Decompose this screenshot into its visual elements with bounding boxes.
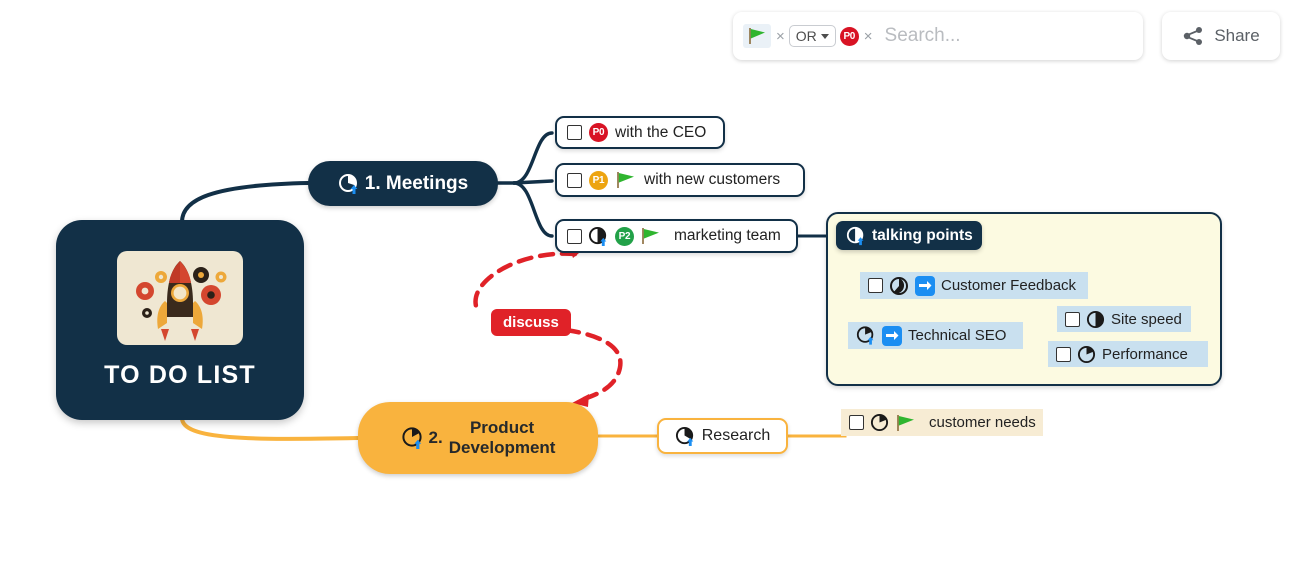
clock-quarter-icon [870, 413, 889, 432]
rocket-and-gears-illustration [117, 251, 243, 345]
node-customer-needs-label: customer needs [929, 414, 1036, 431]
node-product-development-label-line1: Product [470, 418, 534, 438]
node-technical-seo[interactable]: Technical SEO [848, 322, 1023, 349]
checkbox[interactable] [567, 125, 582, 140]
clock-icon [401, 426, 425, 450]
node-meetings-label: 1. Meetings [365, 173, 468, 195]
root-title: TO DO LIST [104, 361, 256, 390]
checkbox[interactable] [868, 278, 883, 293]
clock-half-icon [1086, 310, 1105, 329]
green-flag-icon [640, 227, 662, 245]
node-customer-feedback-label: Customer Feedback [941, 277, 1076, 294]
checkbox[interactable] [849, 415, 864, 430]
p0-badge: P0 [589, 123, 608, 142]
mindmap-canvas[interactable]: × OR P0 × Share [0, 0, 1296, 570]
p2-badge: P2 [615, 227, 634, 246]
node-product-development-number: 2. [429, 428, 443, 448]
operator-label: OR [796, 28, 817, 44]
clock-three-quarter-icon [889, 276, 909, 296]
green-flag-glyph [747, 27, 767, 45]
clock-half-icon [846, 226, 866, 246]
node-performance-label: Performance [1102, 346, 1188, 363]
root-node-to-do-list[interactable]: TO DO LIST [56, 220, 304, 420]
green-flag-icon [615, 171, 637, 189]
node-product-development[interactable]: 2. Product Development [358, 402, 598, 474]
search-input[interactable] [883, 24, 1133, 48]
node-site-speed[interactable]: Site speed [1057, 306, 1191, 332]
node-with-the-ceo-label: with the CEO [615, 124, 706, 142]
node-technical-seo-label: Technical SEO [908, 327, 1006, 344]
remove-priority-token[interactable]: × [864, 29, 873, 44]
search-token-priority[interactable]: P0 × [840, 27, 873, 46]
chevron-down-icon [821, 34, 829, 39]
p0-badge: P0 [840, 27, 859, 46]
green-flag-icon [895, 414, 917, 432]
node-talking-points[interactable]: talking points [836, 221, 982, 250]
share-button[interactable]: Share [1162, 12, 1280, 60]
share-label: Share [1214, 26, 1259, 46]
clock-half-icon [588, 226, 609, 247]
checkbox[interactable] [567, 229, 582, 244]
node-talking-points-label: talking points [872, 227, 973, 245]
blue-arrow-icon [882, 326, 902, 346]
node-product-development-label-line2: Development [449, 438, 556, 458]
node-with-the-ceo[interactable]: P0 with the CEO [555, 116, 725, 149]
node-research-label: Research [702, 427, 770, 445]
blue-arrow-icon [915, 276, 935, 296]
node-site-speed-label: Site speed [1111, 311, 1182, 328]
search-token-flag[interactable]: × [743, 24, 785, 48]
green-flag-icon [743, 24, 771, 48]
share-icon [1182, 26, 1204, 46]
checkbox[interactable] [1056, 347, 1071, 362]
node-with-new-customers[interactable]: P1 with new customers [555, 163, 805, 197]
checkbox[interactable] [1065, 312, 1080, 327]
clock-icon [675, 426, 696, 447]
node-customer-feedback[interactable]: Customer Feedback [860, 272, 1088, 299]
clock-icon [338, 173, 360, 195]
clock-quarter-icon [1077, 345, 1096, 364]
operator-select[interactable]: OR [789, 25, 836, 47]
p1-badge: P1 [589, 171, 608, 190]
clock-quarter-icon [856, 325, 876, 346]
checkbox[interactable] [567, 173, 582, 188]
remove-flag-token[interactable]: × [776, 29, 785, 44]
node-research[interactable]: Research [657, 418, 788, 454]
node-marketing-team[interactable]: P2 marketing team [555, 219, 798, 253]
node-performance[interactable]: Performance [1048, 341, 1208, 367]
node-marketing-team-label: marketing team [674, 227, 781, 245]
node-customer-needs[interactable]: customer needs [841, 409, 1043, 436]
node-with-new-customers-label: with new customers [644, 171, 780, 189]
search-bar[interactable]: × OR P0 × [733, 12, 1143, 60]
node-meetings[interactable]: 1. Meetings [308, 161, 498, 206]
relation-label-discuss[interactable]: discuss [491, 309, 571, 336]
